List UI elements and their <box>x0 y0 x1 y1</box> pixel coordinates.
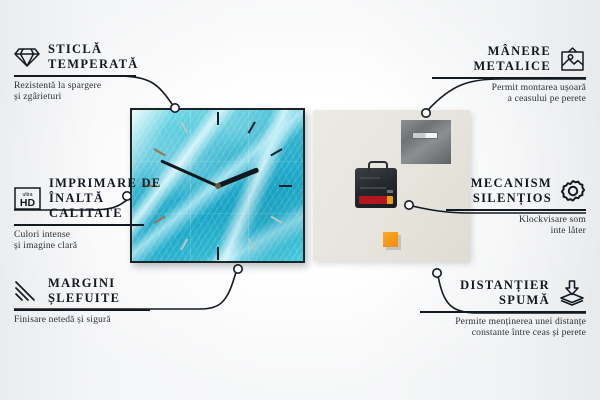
hanger-slot <box>412 132 438 139</box>
callout-title-line1: IMPRIMARE DE <box>49 176 162 191</box>
callout-sub-line1: Finisare netedă și sigură <box>14 314 174 326</box>
battery <box>359 196 393 204</box>
callout-sub-line2: a ceasului pe perete <box>432 93 586 105</box>
callout-sub-line1: Permite menținerea unei distanțe <box>420 316 586 328</box>
callout-sticla-temperata[interactable]: STICLĂ TEMPERATĂ Rezistentă la spargere … <box>14 42 154 103</box>
callout-sub-line2: și zgârieturi <box>14 91 154 103</box>
callout-sub-line1: Permit montarea ușoară <box>432 82 586 94</box>
metal-hanger-plate <box>401 120 451 164</box>
callout-title-line1: MÂNERE <box>473 44 551 59</box>
clock-movement <box>355 168 397 208</box>
callout-sub-line1: Klockvisare som <box>446 214 586 226</box>
callout-distantier-spuma[interactable]: DISTANȚIER SPUMĂ Permite menținerea unei… <box>420 278 586 339</box>
ultra-hd-badge-icon: ultra HD <box>14 187 41 210</box>
product-image <box>130 108 470 266</box>
diamond-icon <box>14 46 40 68</box>
picture-hanger-icon <box>559 47 586 72</box>
callout-imprimare-hd[interactable]: ultra HD IMPRIMARE DE ÎNALTĂ CALITATE Cu… <box>14 176 162 252</box>
callout-title-line2: ÎNALTĂ CALITATE <box>49 191 162 221</box>
callout-title-line1: MARGINI <box>48 276 120 291</box>
hour-tick-3 <box>218 185 292 187</box>
callout-sub-line1: Rezistentă la spargere <box>14 80 154 92</box>
callout-mecanism-silentios[interactable]: MECANISM SILENȚIOS Klockvisare som inte … <box>446 176 586 237</box>
callout-title-line2: TEMPERATĂ <box>48 57 139 72</box>
gear-icon <box>560 179 586 204</box>
infographic-canvas: STICLĂ TEMPERATĂ Rezistentă la spargere … <box>0 0 600 400</box>
foam-spacer <box>383 232 398 247</box>
callout-title-line2: SPUMĂ <box>460 293 550 308</box>
diagonal-lines-icon <box>14 280 40 302</box>
callout-sub-line2: și imagine clară <box>14 240 162 252</box>
callout-title-line1: MECANISM <box>471 176 552 191</box>
callout-title-line1: STICLĂ <box>48 42 139 57</box>
callout-sub-line2: inte låter <box>446 225 586 237</box>
hour-tick-12 <box>217 112 219 186</box>
callout-title-line2: SILENȚIOS <box>471 191 552 206</box>
callout-title-line2: METALICE <box>473 59 551 74</box>
hour-tick-6 <box>217 186 219 260</box>
arrow-press-stack-icon <box>558 280 586 306</box>
callout-sub-line1: Culori intense <box>14 229 162 241</box>
center-pin <box>215 183 221 189</box>
callout-title-line1: DISTANȚIER <box>460 278 550 293</box>
callout-margini-slefuite[interactable]: MARGINI ȘLEFUITE Finisare netedă și sigu… <box>14 276 174 325</box>
callout-sub-line2: constante între ceas și perete <box>420 327 586 339</box>
hd-badge-large-text: HD <box>20 197 36 209</box>
callout-title-line2: ȘLEFUITE <box>48 291 120 306</box>
callout-manere-metalice[interactable]: MÂNERE METALICE Permit montarea ușoară a… <box>432 44 586 105</box>
